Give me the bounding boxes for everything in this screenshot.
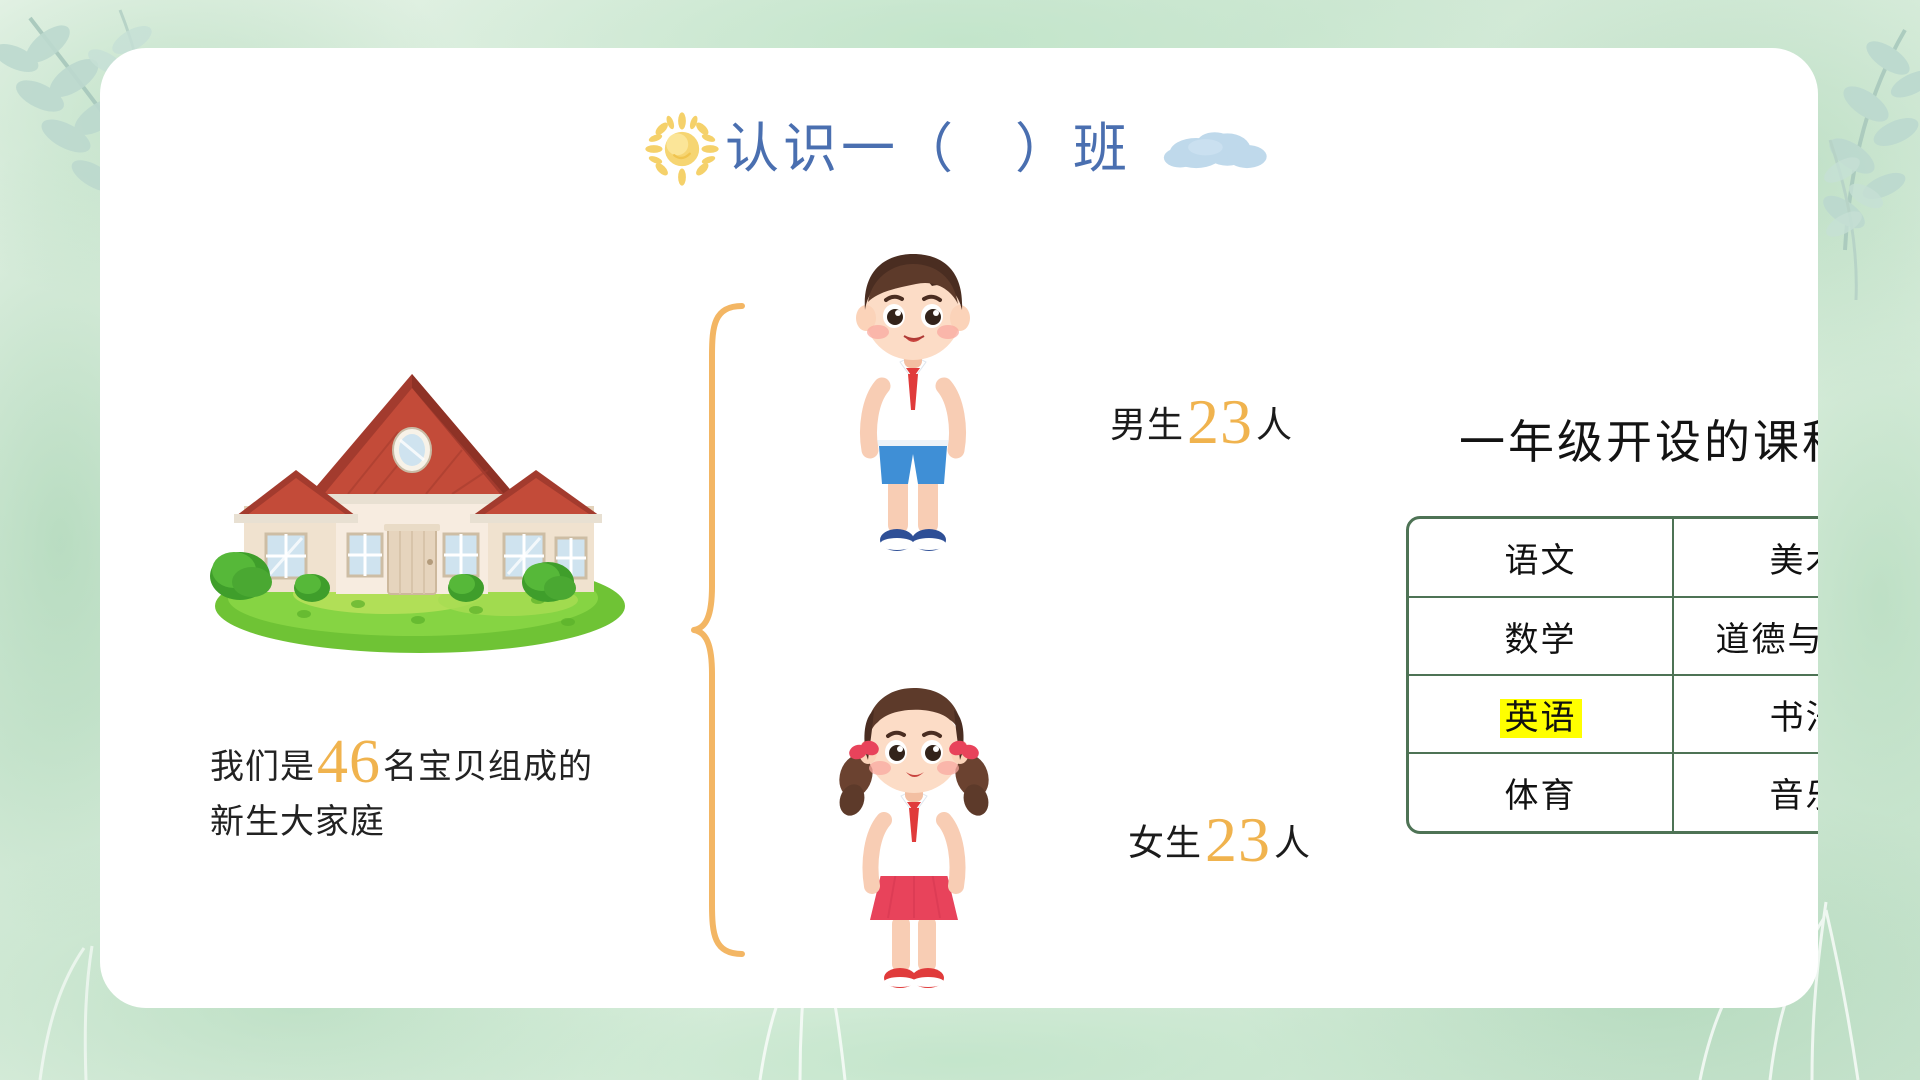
table-row: 语文 美术 <box>1409 519 1818 597</box>
family-second-line: 新生大家庭 <box>210 804 385 841</box>
course-name: 体育 <box>1505 778 1577 815</box>
family-description: 我们是46名宝贝组成的 新生大家庭 <box>210 738 730 850</box>
boy-illustration <box>812 248 1012 578</box>
cloud-icon <box>1159 123 1275 175</box>
table-row: 英语 书法 <box>1409 675 1818 753</box>
course-name: 道德与法治 <box>1716 622 1819 659</box>
table-cell-right: 美术 <box>1673 519 1818 597</box>
slide-card: 认识一（ ）班 <box>100 48 1818 1008</box>
table-cell-right: 书法 <box>1673 675 1818 753</box>
girl-count-value: 23 <box>1202 804 1274 875</box>
table-cell-left: 英语 <box>1409 675 1673 753</box>
house-svg <box>208 338 628 658</box>
family-count: 46 <box>315 728 383 796</box>
page-title-row: 认识一（ ）班 <box>100 110 1818 188</box>
courses-title: 一年级开设的课程 <box>1420 406 1818 472</box>
girl-count-line: 女生23人 <box>1128 814 1311 866</box>
table-cell-right: 道德与法治 <box>1673 597 1818 675</box>
boy-count-line: 男生23人 <box>1110 396 1293 448</box>
table-cell-left: 语文 <box>1409 519 1673 597</box>
girl-svg <box>812 680 1012 1008</box>
family-middle: 名宝贝组成的 <box>383 749 593 786</box>
page-title: 认识一（ ）班 <box>725 122 1131 176</box>
courses-table-grid: 语文 美术 数学 道德与法治 英语 书法 体育 音乐 <box>1409 519 1818 831</box>
course-name: 美术 <box>1770 543 1819 580</box>
table-row: 数学 道德与法治 <box>1409 597 1818 675</box>
table-cell-left: 数学 <box>1409 597 1673 675</box>
course-name: 语文 <box>1505 543 1577 580</box>
table-row: 体育 音乐 <box>1409 753 1818 831</box>
course-name: 数学 <box>1505 622 1577 659</box>
boy-svg <box>812 248 1012 578</box>
course-name-highlighted: 英语 <box>1500 699 1582 738</box>
courses-table: 语文 美术 数学 道德与法治 英语 书法 体育 音乐 <box>1406 516 1818 834</box>
table-cell-right: 音乐 <box>1673 753 1818 831</box>
girl-illustration <box>812 680 1012 1008</box>
house-illustration <box>208 338 628 658</box>
girl-label: 女生 <box>1128 823 1202 863</box>
boy-unit: 人 <box>1256 405 1293 445</box>
sun-icon <box>643 110 721 188</box>
boy-count-value: 23 <box>1184 386 1256 457</box>
boy-label: 男生 <box>1110 405 1184 445</box>
curly-brace <box>690 300 752 960</box>
table-cell-left: 体育 <box>1409 753 1673 831</box>
course-name: 书法 <box>1770 700 1819 737</box>
family-prefix: 我们是 <box>210 749 315 786</box>
course-name: 音乐 <box>1770 778 1819 815</box>
girl-unit: 人 <box>1274 823 1311 863</box>
